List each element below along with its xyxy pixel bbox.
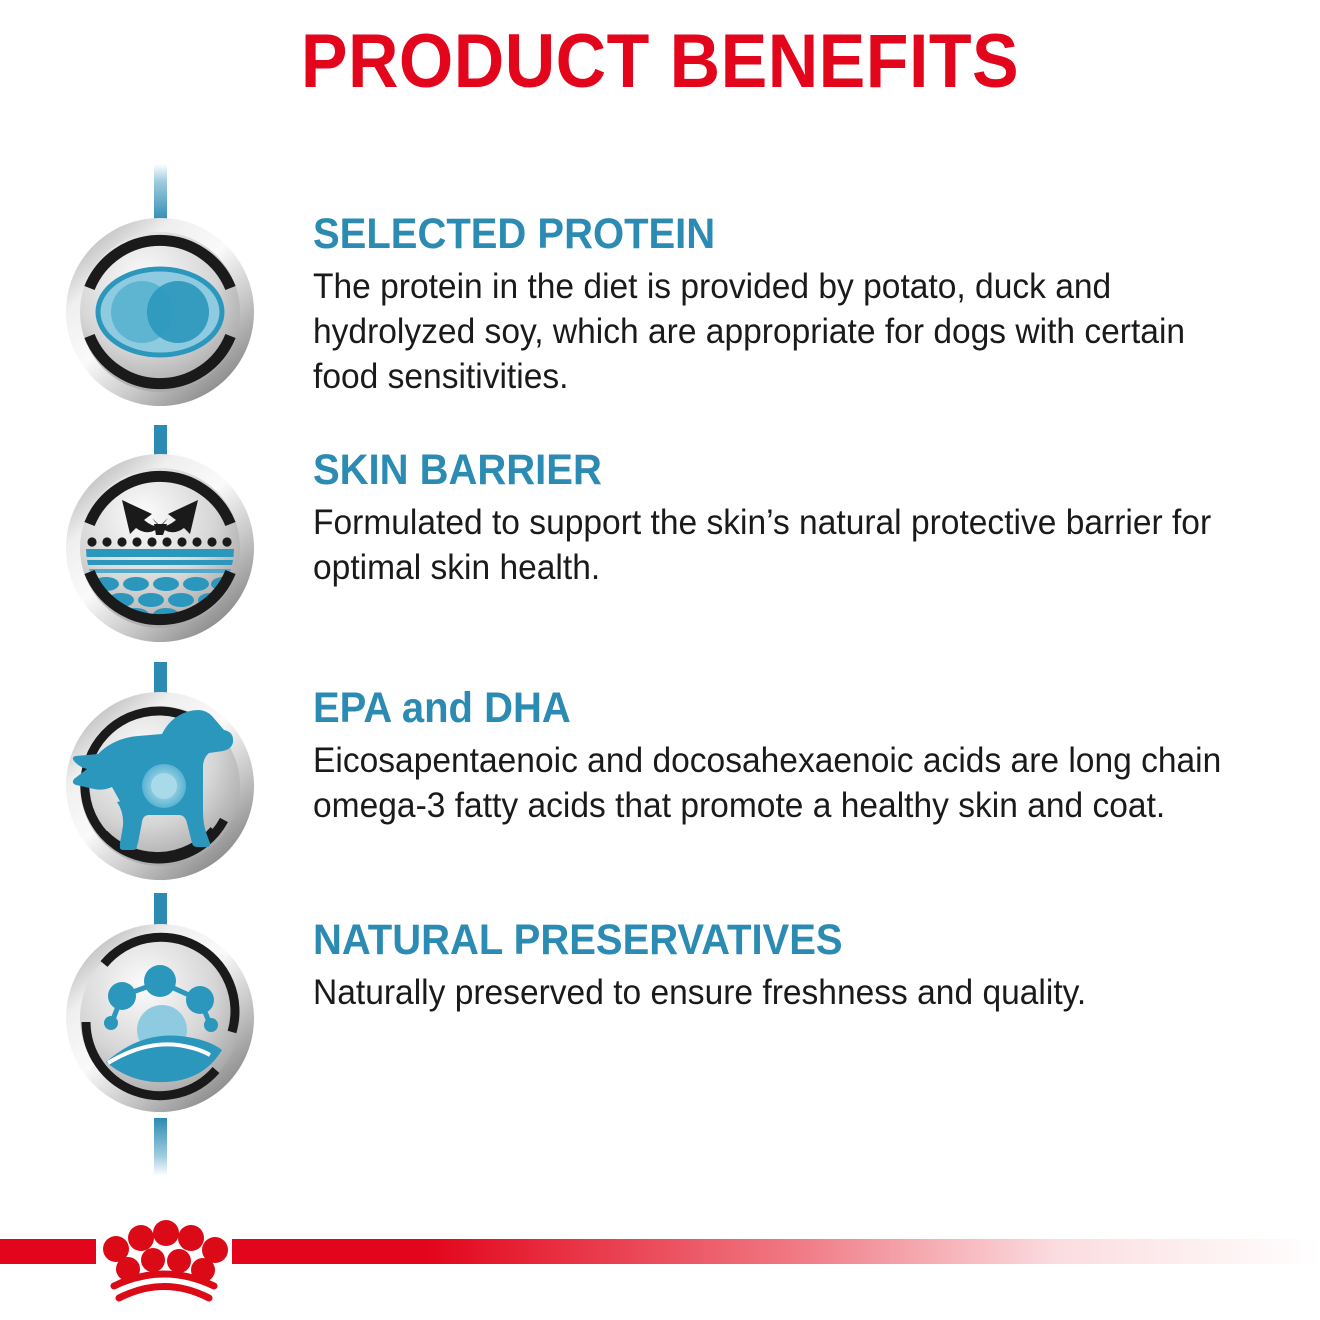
benefit-heading: SELECTED PROTEIN [313,212,1210,258]
benefit-heading: SKIN BARRIER [313,448,1210,494]
benefit-body: Eicosapentaenoic and docosahexaenoic aci… [313,738,1225,829]
footer-bar-left [0,1239,96,1264]
royal-canin-crown-logo [92,1205,236,1305]
benefit-text-natural-preservatives: NATURAL PRESERVATIVES Naturally preserve… [313,918,1278,1015]
product-benefits-page: PRODUCT BENEFITS [0,0,1320,1320]
footer-bar-right [232,1239,1320,1264]
benefit-body: Naturally preserved to ensure freshness … [313,970,1225,1015]
natural-preservatives-icon [64,922,256,1114]
skin-barrier-icon [64,452,256,644]
connector-dash-3-4 [154,893,167,925]
benefit-heading: NATURAL PRESERVATIVES [313,918,1210,964]
benefit-text-selected-protein: SELECTED PROTEIN The protein in the diet… [313,212,1278,400]
connector-dash-bottom [154,1118,167,1176]
benefit-text-skin-barrier: SKIN BARRIER Formulated to support the s… [313,448,1278,590]
epa-dha-dog-icon [64,690,256,882]
connector-dash-top [154,164,167,222]
page-title: PRODUCT BENEFITS [53,24,1267,100]
benefit-heading: EPA and DHA [313,686,1210,732]
selected-protein-icon [64,216,256,408]
benefit-body: Formulated to support the skin’s natural… [313,500,1225,591]
benefit-text-epa-dha: EPA and DHA Eicosapentaenoic and docosah… [313,686,1278,828]
benefit-body: The protein in the diet is provided by p… [313,264,1225,400]
